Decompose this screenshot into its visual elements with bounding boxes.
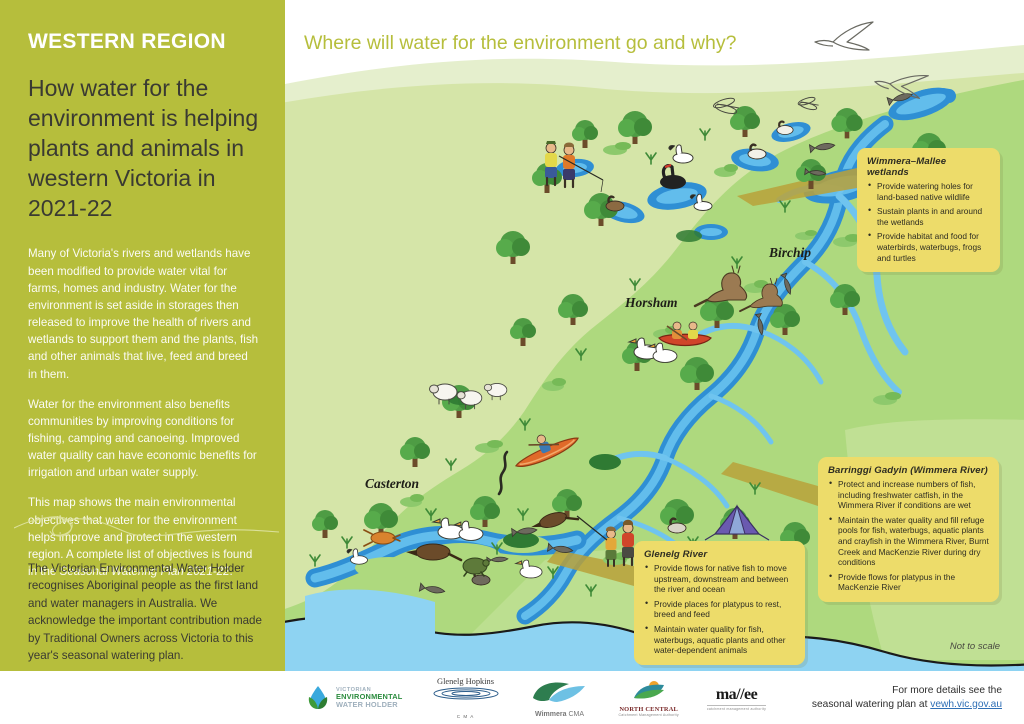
scale-note: Not to scale [950, 641, 1000, 652]
vewh-line-3b: HOLDER [365, 700, 397, 709]
wimmera-leaf-wave-icon [529, 678, 591, 704]
logo-mallee-cma: ma//ee catchment management authority [707, 679, 766, 717]
callout-objectives-list: Protect and increase numbers of fish, in… [828, 479, 989, 593]
vewh-wordmark: VICTORIAN ENVIRONMENTAL WATER HOLDER [336, 687, 403, 709]
callout-glenelg-river: Glenelg River Provide flows for native f… [634, 541, 805, 665]
glenelg-hopkins-swirl-icon [431, 687, 501, 700]
acknowledgement-of-country: The Victorian Environmental Water Holder… [28, 560, 266, 664]
logo-wimmera-cma: Wimmera CMA [529, 679, 591, 717]
decorative-swirl-divider [14, 512, 279, 546]
left-info-panel: WESTERN REGION How water for the environ… [0, 0, 285, 671]
footer-note-prefix: seasonal watering plan at [812, 699, 930, 710]
partner-logo-strip: VICTORIAN ENVIRONMENTAL WATER HOLDER Gle… [305, 679, 766, 717]
callout-objective: Provide flows for platypus in the MacKen… [828, 572, 989, 593]
callout-wimmera-mallee-wetlands: Wimmera–Mallee wetlands Provide watering… [857, 148, 1000, 272]
map-illustration-area: Where will water for the environment go … [285, 0, 1024, 671]
footer-note-line-2: seasonal watering plan at vewh.vic.gov.a… [812, 698, 1002, 712]
wimmera-cma-label: CMA [568, 711, 584, 718]
logo-north-central-cma: NORTH CENTRAL Catchment Management Autho… [619, 679, 679, 717]
vewh-website-link[interactable]: vewh.vic.gov.au [930, 699, 1002, 710]
callout-objective: Provide flows for native fish to move up… [644, 563, 795, 595]
callout-barringgi-gadyin-wimmera-river: Barringgi Gadyin (Wimmera River) Protect… [818, 457, 999, 602]
page-title: How water for the environment is helping… [28, 74, 259, 223]
logo-glenelg-hopkins-cma: Glenelg Hopkins C M A [431, 679, 501, 717]
vewh-line-3: WATER HOLDER [336, 701, 403, 709]
callout-objective: Provide places for platypus to rest, bre… [644, 599, 795, 620]
north-central-wordmark: NORTH CENTRAL [619, 706, 679, 713]
mallee-wordmark: ma//ee [707, 686, 766, 704]
callout-objective: Maintain water quality for fish, waterbu… [644, 624, 795, 656]
logo-victorian-environmental-water-holder: VICTORIAN ENVIRONMENTAL WATER HOLDER [305, 679, 403, 717]
north-central-subtitle: Catchment Management Authority [619, 713, 679, 717]
glenelg-hopkins-cma-label: C M A [431, 714, 501, 719]
glenelg-hopkins-wordmark: Glenelg Hopkins [431, 677, 501, 686]
water-drop-leaf-icon [305, 684, 331, 712]
map-title: Where will water for the environment go … [304, 32, 736, 55]
footer-note: For more details see the seasonal wateri… [812, 684, 1002, 712]
mallee-subtitle: catchment management authority [707, 707, 766, 711]
town-label-casterton: Casterton [365, 476, 419, 492]
callout-objective: Maintain the water quality and fill refu… [828, 515, 989, 568]
north-central-sun-hill-icon [632, 679, 666, 701]
callout-objectives-list: Provide watering holes for land-based na… [867, 181, 990, 263]
vewh-line-3a: WATER [336, 700, 365, 709]
town-label-horsham: Horsham [625, 295, 678, 311]
wimmera-wordmark: Wimmera [535, 711, 566, 718]
infographic-page: WESTERN REGION How water for the environ… [0, 0, 1024, 724]
intro-paragraph-2: Water for the environment also benefits … [28, 396, 259, 482]
callout-title: Wimmera–Mallee wetlands [867, 156, 990, 178]
footer: VICTORIAN ENVIRONMENTAL WATER HOLDER Gle… [285, 671, 1024, 724]
callout-objective: Protect and increase numbers of fish, in… [828, 479, 989, 511]
callout-objective: Provide watering holes for land-based na… [867, 181, 990, 202]
region-kicker: WESTERN REGION [28, 30, 259, 54]
town-label-birchip: Birchip [769, 245, 811, 261]
callout-title: Barringgi Gadyin (Wimmera River) [828, 465, 989, 476]
callout-objectives-list: Provide flows for native fish to move up… [644, 563, 795, 656]
callout-objective: Sustain plants in and around the wetland… [867, 206, 990, 227]
callout-objective: Provide habitat and food for waterbirds,… [867, 231, 990, 263]
footer-note-line-1: For more details see the [812, 684, 1002, 698]
intro-paragraph-1: Many of Victoria's rivers and wetlands h… [28, 245, 259, 382]
callout-title: Glenelg River [644, 549, 795, 560]
